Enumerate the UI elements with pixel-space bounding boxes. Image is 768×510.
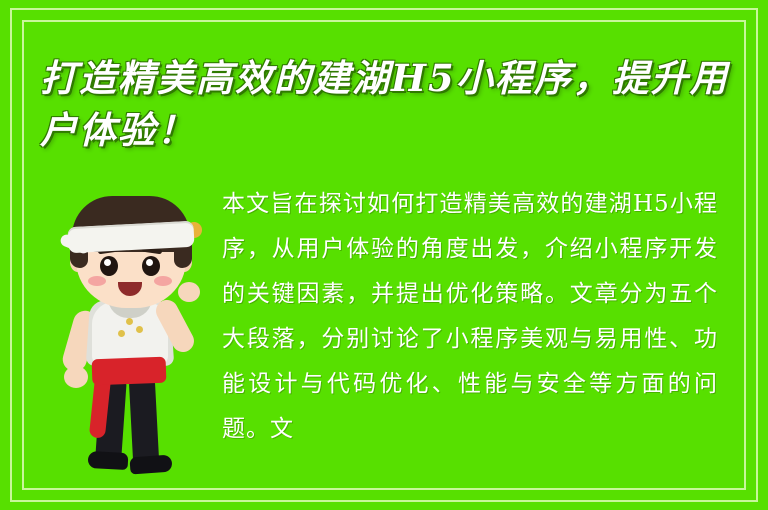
mascot-left-shoe [88, 451, 129, 470]
mascot-right-blush [154, 276, 172, 286]
mascot-left-blush [88, 276, 106, 286]
mascot-right-eye-glint [146, 259, 153, 266]
mascot-bead [136, 326, 143, 333]
page-title: 打造精美高效的建湖H5小程序，提升用户体验！ [40, 52, 730, 156]
poster-canvas: 打造精美高效的建湖H5小程序，提升用户体验！ [0, 0, 768, 510]
mascot-bead [126, 318, 133, 325]
mascot-waist-sash [92, 357, 167, 386]
mascot-right-hand [178, 282, 200, 302]
mascot-left-eye-glint [104, 259, 111, 266]
mascot-bead [118, 330, 125, 337]
mascot-right-shoe [129, 455, 172, 475]
mascot-left-hand [64, 366, 88, 388]
mascot-right-leg [129, 374, 160, 467]
chibi-boy-mascot-illustration [46, 190, 216, 480]
body-paragraph: 本文旨在探讨如何打造精美高效的建湖H5小程序，从用户体验的角度出发，介绍小程序开… [222, 182, 718, 452]
